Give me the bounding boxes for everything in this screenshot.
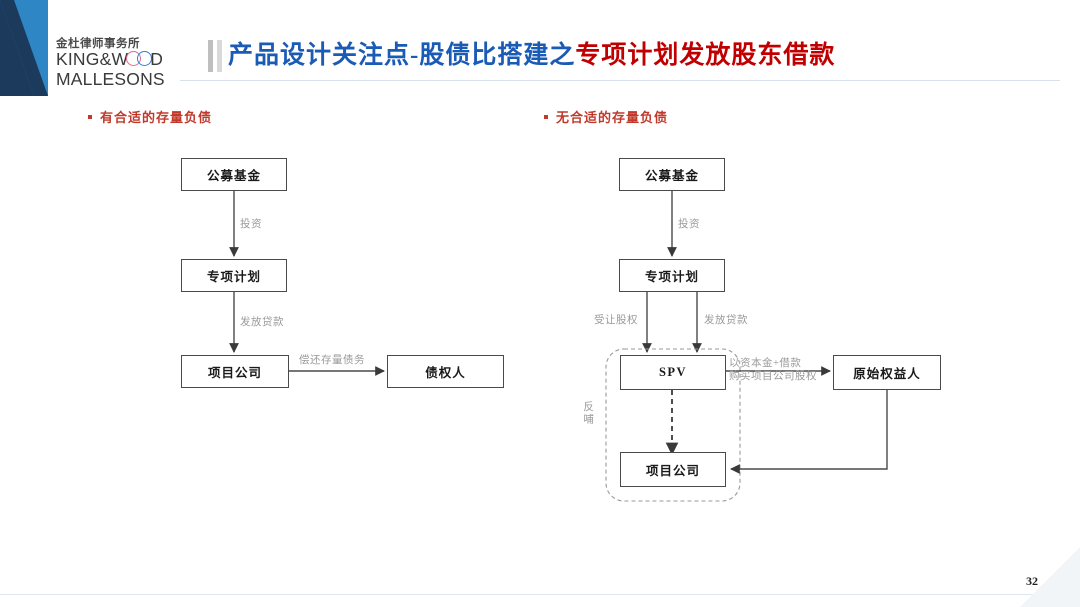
page-number: 32 bbox=[1026, 574, 1038, 589]
brand-name-en-line2: MALLESONS bbox=[56, 70, 186, 90]
section-heading-left: 有合适的存量负债 bbox=[88, 107, 212, 126]
brand-en-suffix: D bbox=[150, 49, 163, 69]
page-title: 产品设计关注点-股债比搭建之专项计划发放股东借款 bbox=[228, 40, 835, 72]
edge-label-right-buy-equity: 以资本金+借款 购买项目公司股权 bbox=[729, 357, 817, 383]
page-title-red: 专项计划发放股东借款 bbox=[575, 42, 835, 69]
title-divider bbox=[180, 80, 1060, 81]
bullet-square-icon bbox=[88, 115, 92, 119]
section-heading-left-label: 有合适的存量负债 bbox=[100, 110, 212, 125]
node-right-project-company[interactable]: 项目公司 bbox=[620, 452, 726, 487]
title-bar-1 bbox=[208, 40, 213, 72]
kwm-logo-mark bbox=[0, 0, 48, 96]
node-left-public-fund[interactable]: 公募基金 bbox=[181, 158, 287, 191]
title-bar-2 bbox=[217, 40, 222, 72]
corner-decoration bbox=[1000, 547, 1080, 607]
section-heading-right: 无合适的存量负债 bbox=[544, 107, 668, 126]
edge-label-right-buy-equity-line2: 购买项目公司股权 bbox=[729, 370, 817, 383]
group-label-feedback: 反哺 bbox=[581, 401, 594, 426]
edge-label-left-invest: 投资 bbox=[240, 218, 262, 231]
edge-label-right-invest: 投资 bbox=[678, 218, 700, 231]
brand-name-en-line1: KING&WD bbox=[56, 50, 186, 70]
node-left-special-plan[interactable]: 专项计划 bbox=[181, 259, 287, 292]
slide: 金杜律师事务所 KING&WD MALLESONS 产品设计关注点-股债比搭建之… bbox=[0, 0, 1080, 607]
node-right-original-owner[interactable]: 原始权益人 bbox=[833, 355, 941, 390]
page-title-blue: 产品设计关注点-股债比搭建之 bbox=[228, 42, 575, 69]
node-right-public-fund[interactable]: 公募基金 bbox=[619, 158, 725, 191]
edge-label-right-buy-equity-line1: 以资本金+借款 bbox=[729, 357, 817, 370]
node-right-spv[interactable]: SPV bbox=[620, 355, 726, 390]
edge-label-left-issue-loan: 发放贷款 bbox=[240, 316, 284, 329]
diagram-connectors bbox=[0, 0, 1080, 607]
edge-label-left-repay-debt: 偿还存量债务 bbox=[299, 354, 365, 367]
title-accent-bars bbox=[208, 40, 222, 72]
section-heading-right-label: 无合适的存量负债 bbox=[556, 110, 668, 125]
node-left-project-company[interactable]: 项目公司 bbox=[181, 355, 289, 388]
edge-label-right-transfer-equity: 受让股权 bbox=[594, 314, 638, 327]
node-right-special-plan[interactable]: 专项计划 bbox=[619, 259, 725, 292]
node-left-creditor[interactable]: 债权人 bbox=[387, 355, 504, 388]
bullet-square-icon bbox=[544, 115, 548, 119]
edge-label-right-issue-loan: 发放贷款 bbox=[704, 314, 748, 327]
brand-en-prefix: KING&W bbox=[56, 49, 128, 69]
footer-divider bbox=[0, 594, 1080, 595]
kwm-logo-text: 金杜律师事务所 KING&WD MALLESONS bbox=[56, 38, 186, 89]
